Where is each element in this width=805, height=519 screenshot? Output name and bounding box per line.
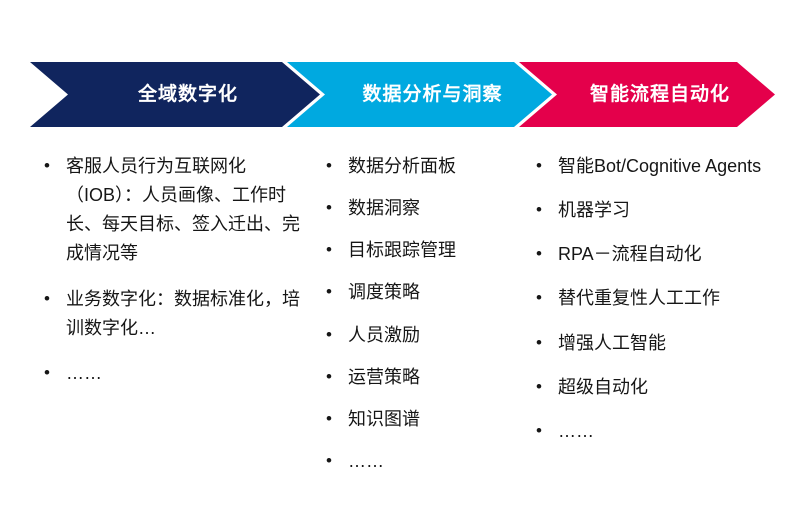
chevron-stage-2-label: 数据分析与洞察 [336,85,502,104]
stage-content-columns: 客服人员行为互联网化（IOB）：人员画像、工作时长、每天目标、签入迁出、完成情况… [30,152,775,492]
stage-3-column: 智能Bot/Cognitive Agents 机器学习 RPA－流程自动化 替代… [530,152,775,461]
list-item: RPA－流程自动化 [530,240,775,269]
list-item: 数据分析面板 [320,152,520,181]
chevron-stage-1[interactable]: 全域数字化 [30,62,320,127]
stage-1-column: 客服人员行为互联网化（IOB）：人员画像、工作时长、每天目标、签入迁出、完成情况… [38,152,308,404]
list-item: 数据洞察 [320,194,520,223]
list-item: 目标跟踪管理 [320,236,520,265]
list-item: 智能Bot/Cognitive Agents [530,152,775,181]
process-diagram: 全域数字化 数据分析与洞察 智能流程自动化 客服人员行为互联网化（IOB）：人员… [0,0,805,519]
stage-2-bullet-list: 数据分析面板 数据洞察 目标跟踪管理 调度策略 人员激励 运营策略 知识图谱 …… [320,152,520,476]
stage-3-bullet-list: 智能Bot/Cognitive Agents 机器学习 RPA－流程自动化 替代… [530,152,775,446]
list-item: 超级自动化 [530,373,775,402]
chevron-stage-3[interactable]: 智能流程自动化 [519,62,775,127]
chevron-stage-2[interactable]: 数据分析与洞察 [287,62,552,127]
list-item: …… [38,359,308,388]
list-item: 知识图谱 [320,405,520,434]
stage-2-column: 数据分析面板 数据洞察 目标跟踪管理 调度策略 人员激励 运营策略 知识图谱 …… [320,152,520,489]
list-item: …… [320,447,520,476]
chevron-stage-3-label: 智能流程自动化 [564,85,730,104]
list-item: 调度策略 [320,278,520,307]
list-item: 运营策略 [320,363,520,392]
list-item: 增强人工智能 [530,329,775,358]
chevron-band: 全域数字化 数据分析与洞察 智能流程自动化 [30,62,775,127]
stage-1-bullet-list: 客服人员行为互联网化（IOB）：人员画像、工作时长、每天目标、签入迁出、完成情况… [38,152,308,388]
list-item: 人员激励 [320,321,520,350]
chevron-stage-1-label: 全域数字化 [112,85,238,104]
list-item: …… [530,417,775,446]
list-item: 机器学习 [530,196,775,225]
list-item: 替代重复性人工工作 [530,284,775,313]
list-item: 业务数字化：数据标准化，培训数字化… [38,285,308,343]
list-item: 客服人员行为互联网化（IOB）：人员画像、工作时长、每天目标、签入迁出、完成情况… [38,152,308,269]
